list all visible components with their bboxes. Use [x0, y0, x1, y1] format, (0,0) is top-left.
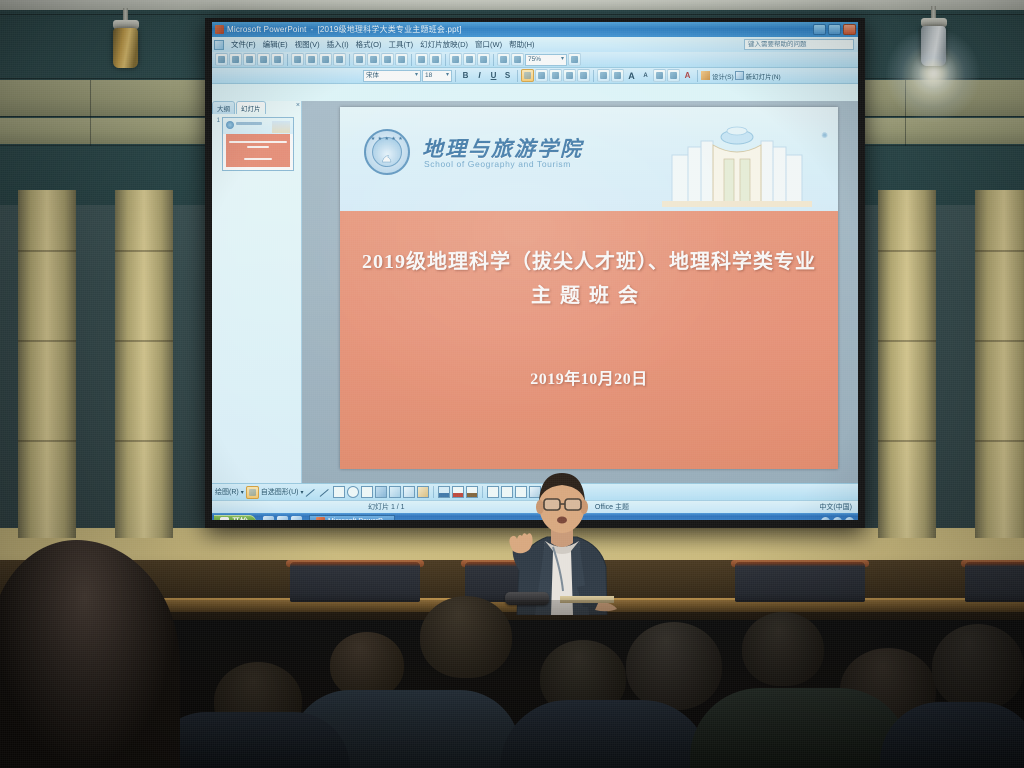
font-name-value: 宋体	[366, 70, 379, 81]
menu-slideshow[interactable]: 幻灯片放映(D)	[417, 38, 471, 51]
slide-canvas[interactable]: ★ ★ ★ ★ ★ 地理与旅游学院 School of Geography an…	[340, 107, 838, 469]
design-swatch-icon	[701, 71, 710, 80]
school-seal-icon: ★ ★ ★ ★ ★	[364, 129, 410, 175]
wordart-icon[interactable]	[375, 486, 387, 498]
chevron-down-icon[interactable]: ▾	[558, 54, 564, 65]
ask-a-question-input[interactable]: 键入需要帮助的问题	[744, 39, 854, 50]
font-color-icon[interactable]: A	[681, 69, 694, 82]
fill-color-icon[interactable]	[438, 486, 450, 498]
line-icon[interactable]	[305, 486, 317, 498]
windows-flag-icon	[220, 517, 229, 520]
menu-format[interactable]: 格式(O)	[353, 38, 385, 51]
design-label: 设计(S)	[712, 71, 734, 81]
slide-title[interactable]: 2019级地理科学（拔尖人才班）、地理科学类专业 主题班会	[340, 245, 838, 313]
decrease-font-icon[interactable]: A	[639, 69, 652, 82]
format-painter-icon[interactable]	[395, 53, 408, 66]
seal-stars: ★ ★ ★ ★ ★	[371, 136, 403, 142]
menu-bar[interactable]: 文件(F) 编辑(E) 视图(V) 插入(I) 格式(O) 工具(T) 幻灯片放…	[212, 37, 858, 52]
zoom-value: 75%	[528, 54, 541, 65]
quick-launch-bar[interactable]	[259, 516, 306, 520]
align-left-icon[interactable]	[521, 69, 534, 82]
volume-icon[interactable]	[833, 517, 842, 520]
help-icon[interactable]	[568, 53, 581, 66]
slide-thumbnail-1[interactable]	[222, 117, 294, 171]
audience-head	[420, 596, 512, 678]
birds-icon: ✺	[821, 131, 828, 140]
align-justify-icon[interactable]	[563, 69, 576, 82]
powerpoint-body: 大纲 幻灯片 × 1	[212, 101, 858, 483]
lamp-right-bulb	[911, 50, 957, 96]
pillar-left-inner	[115, 190, 173, 538]
formatting-toolbar[interactable]: 宋体 ▾ 18 ▾ B I U S	[212, 68, 858, 84]
audience-shoulders	[690, 688, 910, 768]
shadow-icon[interactable]: S	[501, 69, 514, 82]
line-color-icon[interactable]	[452, 486, 464, 498]
thumbnail-number: 1	[214, 117, 220, 171]
start-button[interactable]: 开始	[214, 515, 256, 521]
presenter-figure	[487, 455, 637, 615]
email-icon[interactable]	[271, 53, 284, 66]
pillar-right-outer	[975, 190, 1024, 538]
chevron-down-icon[interactable]: ▾	[300, 489, 303, 496]
italic-icon[interactable]: I	[473, 69, 486, 82]
line-spacing-icon[interactable]	[577, 69, 590, 82]
campus-building-illustration	[662, 115, 812, 207]
new-slide-label: 新幻灯片(N)	[746, 71, 781, 81]
new-slide-button[interactable]: 新幻灯片(N)	[735, 71, 781, 81]
titlebar-document-name: [2019级地理科学大类专业主题班会.ppt]	[317, 24, 461, 35]
select-objects-icon[interactable]	[246, 486, 259, 499]
window-controls[interactable]	[813, 24, 856, 35]
bullets-icon[interactable]	[611, 69, 624, 82]
tab-outline[interactable]: 大纲	[212, 101, 235, 114]
oval-icon[interactable]	[347, 486, 359, 498]
audience-shoulders	[150, 712, 350, 768]
permission-icon[interactable]	[257, 53, 270, 66]
powerpoint-window[interactable]: Microsoft PowerPoint - [2019级地理科学大类专业主题班…	[212, 22, 858, 520]
menu-file[interactable]: 文件(F)	[228, 38, 259, 51]
decrease-indent-icon[interactable]	[653, 69, 666, 82]
powerpoint-app-icon	[215, 25, 224, 34]
text-box-icon[interactable]	[361, 486, 373, 498]
projection-screen: Microsoft PowerPoint - [2019级地理科学大类专业主题班…	[212, 22, 858, 520]
insert-picture-icon[interactable]	[403, 486, 415, 498]
chevron-down-icon[interactable]: ▾	[443, 70, 449, 81]
media-player-icon[interactable]	[277, 516, 288, 520]
taskbar-powerpoint-button[interactable]: Microsoft PowerP...	[309, 515, 395, 521]
insert-table-icon[interactable]	[463, 53, 476, 66]
audience-head	[626, 622, 722, 710]
arrow-icon[interactable]	[319, 486, 331, 498]
new-slide-icon	[735, 71, 744, 80]
titlebar-separator: -	[307, 25, 318, 34]
thumbnail-building-icon	[272, 121, 290, 133]
pane-tabs[interactable]: 大纲 幻灯片 ×	[212, 101, 302, 114]
audience-shoulders	[500, 700, 710, 768]
ime-icon[interactable]	[845, 517, 854, 520]
titlebar-app-name: Microsoft PowerPoint	[227, 25, 307, 34]
autoshapes-label: 自选图形(U)	[261, 487, 299, 497]
zoom-combo[interactable]: 75% ▾	[525, 54, 567, 66]
tab-slides[interactable]: 幻灯片	[236, 101, 266, 114]
insert-chart-icon[interactable]	[449, 53, 462, 66]
pillar-right-inner	[878, 190, 936, 538]
menu-window[interactable]: 窗口(W)	[472, 38, 505, 51]
slides-pane[interactable]: 大纲 幻灯片 × 1	[212, 101, 302, 483]
menu-view[interactable]: 视图(V)	[292, 38, 323, 51]
taskbar-button-label: Microsoft PowerP...	[328, 518, 388, 520]
chevron-down-icon[interactable]: ▾	[241, 489, 244, 496]
font-color-icon[interactable]	[466, 486, 478, 498]
close-button[interactable]	[843, 24, 856, 35]
design-button[interactable]: 设计(S)	[701, 71, 734, 81]
slide-date[interactable]: 2019年10月20日	[340, 365, 838, 389]
print-icon[interactable]	[291, 53, 304, 66]
slide-header: ★ ★ ★ ★ ★ 地理与旅游学院 School of Geography an…	[340, 107, 838, 211]
bold-icon[interactable]: B	[459, 69, 472, 82]
save-icon[interactable]	[243, 53, 256, 66]
numbering-icon[interactable]	[597, 69, 610, 82]
autoshapes-menu-button[interactable]: 自选图形(U) ▾	[261, 487, 304, 497]
slide-title-line-1: 2019级地理科学（拔尖人才班）、地理科学类专业	[340, 245, 838, 279]
copy-icon[interactable]	[367, 53, 380, 66]
font-size-value: 18	[425, 70, 432, 81]
align-right-icon[interactable]	[549, 69, 562, 82]
draw-menu-button[interactable]: 绘图(R) ▾	[215, 487, 244, 497]
audience-head	[330, 632, 404, 698]
undo-icon[interactable]	[415, 53, 428, 66]
paste-icon[interactable]	[381, 53, 394, 66]
slide-counter: 幻灯片 1 / 1	[362, 502, 411, 512]
menu-edit[interactable]: 编辑(E)	[260, 38, 291, 51]
insert-picture-icon[interactable]	[477, 53, 490, 66]
thumbnail-seal-icon	[226, 121, 234, 129]
thumbnail-band	[226, 134, 290, 167]
show-formatting-icon[interactable]	[497, 53, 510, 66]
input-language: 中文(中国)	[813, 502, 858, 512]
lamp-left	[113, 28, 138, 68]
redo-icon[interactable]	[429, 53, 442, 66]
wall-vseam-1	[90, 80, 91, 146]
audience-head	[742, 612, 824, 686]
lecture-hall-photo: Microsoft PowerPoint - [2019级地理科学大类专业主题班…	[0, 0, 1024, 768]
rectangle-icon[interactable]	[333, 486, 345, 498]
powerpoint-icon	[316, 517, 325, 520]
grayscale-icon[interactable]	[511, 53, 524, 66]
thumbnail-list[interactable]: 1	[214, 117, 300, 171]
open-icon[interactable]	[229, 53, 242, 66]
minimize-button[interactable]	[813, 24, 826, 35]
system-tray[interactable]	[821, 517, 858, 520]
research-icon[interactable]	[333, 53, 346, 66]
spelling-icon[interactable]	[319, 53, 332, 66]
powerpoint-titlebar: Microsoft PowerPoint - [2019级地理科学大类专业主题班…	[212, 22, 858, 37]
standard-toolbar[interactable]: 75% ▾	[212, 52, 858, 68]
menu-tools[interactable]: 工具(T)	[386, 38, 417, 51]
chevron-down-icon[interactable]: ▾	[412, 70, 418, 81]
thumbnail-school-text	[236, 122, 262, 125]
close-pane-icon[interactable]: ×	[296, 102, 300, 109]
font-name-combo[interactable]: 宋体 ▾	[363, 70, 421, 82]
school-name-en: School of Geography and Tourism	[424, 159, 571, 169]
seal-figure-icon	[379, 150, 395, 166]
document-icon	[214, 40, 224, 50]
draw-label: 绘图(R)	[215, 487, 239, 497]
browser-icon[interactable]	[291, 516, 302, 520]
show-desktop-icon[interactable]	[263, 516, 274, 520]
network-icon[interactable]	[821, 517, 830, 520]
cut-icon[interactable]	[353, 53, 366, 66]
new-document-icon[interactable]	[215, 53, 228, 66]
audience-head	[932, 624, 1024, 710]
clip-art-icon[interactable]	[417, 486, 429, 498]
start-label: 开始	[232, 516, 248, 520]
underline-icon[interactable]: U	[487, 69, 500, 82]
align-center-icon[interactable]	[535, 69, 548, 82]
presenter	[487, 455, 637, 615]
diagram-icon[interactable]	[389, 486, 401, 498]
wall-seam-1	[0, 14, 1024, 15]
menu-insert[interactable]: 插入(I)	[324, 38, 352, 51]
increase-font-icon[interactable]: A	[625, 69, 638, 82]
slide-editing-area[interactable]: ★ ★ ★ ★ ★ 地理与旅游学院 School of Geography an…	[302, 101, 858, 483]
print-preview-icon[interactable]	[305, 53, 318, 66]
restore-button[interactable]	[828, 24, 841, 35]
menu-help[interactable]: 帮助(H)	[506, 38, 537, 51]
slide-title-line-2: 主题班会	[340, 279, 838, 313]
font-size-combo[interactable]: 18 ▾	[422, 70, 452, 82]
pillar-left-outer	[18, 190, 76, 538]
increase-indent-icon[interactable]	[667, 69, 680, 82]
